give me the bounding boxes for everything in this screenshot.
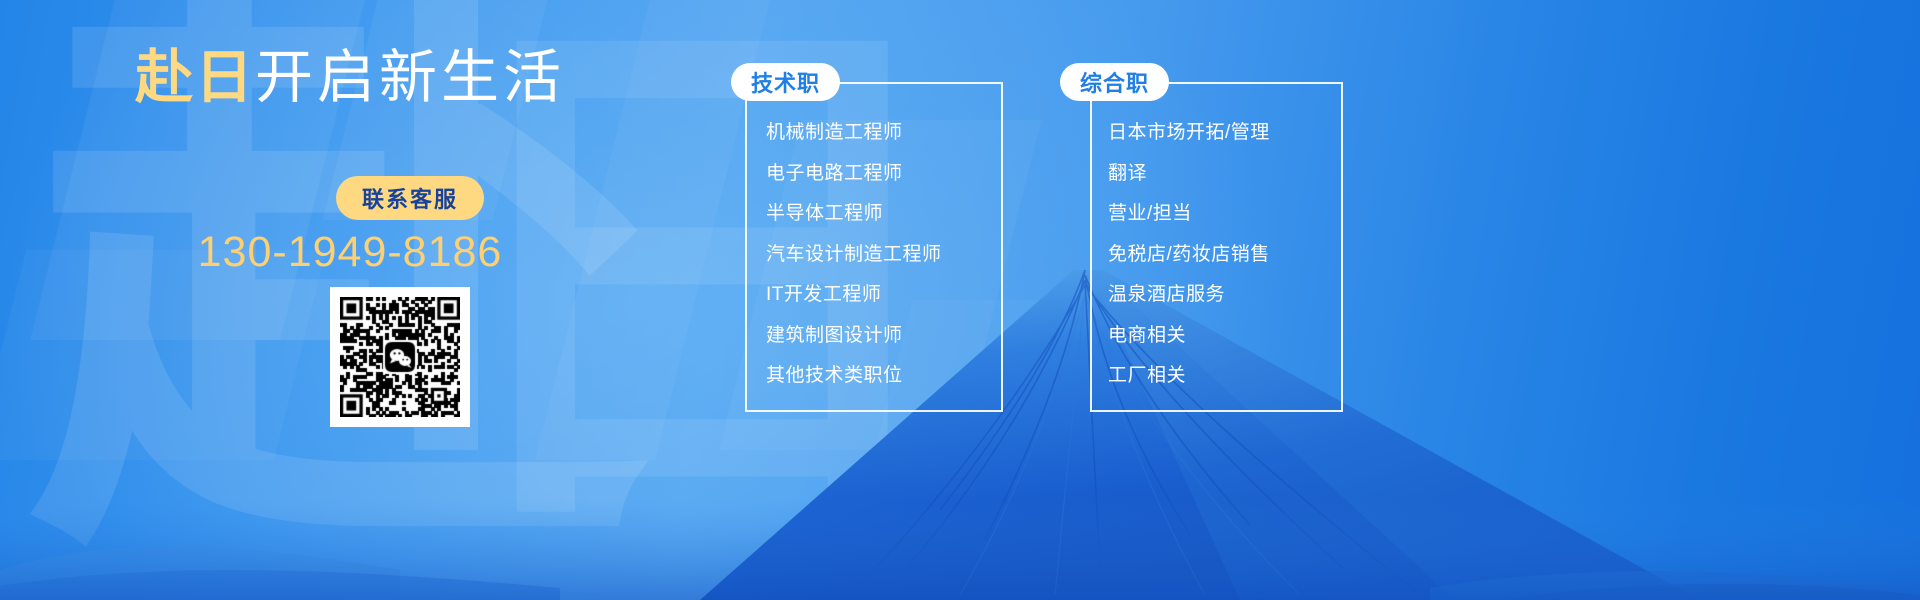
- contact-phone-number: 130-1949-8186: [0, 228, 700, 277]
- list-item[interactable]: 工厂相关: [1108, 356, 1358, 397]
- page-title: 赴日开启新生活: [0, 46, 700, 110]
- wechat-qr-code[interactable]: [330, 287, 470, 427]
- list-item[interactable]: 半导体工程师: [766, 194, 1006, 235]
- job-list-technical: 机械制造工程师 电子电路工程师 半导体工程师 汽车设计制造工程师 IT开发工程师…: [766, 113, 1006, 397]
- list-item[interactable]: 机械制造工程师: [766, 113, 1006, 154]
- list-item[interactable]: 日本市场开拓/管理: [1108, 113, 1358, 154]
- list-item[interactable]: 营业/担当: [1108, 194, 1358, 235]
- list-item[interactable]: 翻译: [1108, 154, 1358, 195]
- headline-rest: 开启新生活: [255, 45, 565, 110]
- list-item[interactable]: 温泉酒店服务: [1108, 275, 1358, 316]
- wechat-qr-code-image: [340, 297, 460, 417]
- list-item[interactable]: 免税店/药妆店销售: [1108, 235, 1358, 276]
- job-category-badge-general[interactable]: 综合职: [1060, 63, 1169, 101]
- left-promo-block: 赴日开启新生活 联系客服 130-1949-8186: [0, 0, 700, 600]
- list-item[interactable]: 汽车设计制造工程师: [766, 235, 1006, 276]
- promo-banner: 赴 日: [0, 0, 1920, 600]
- list-item[interactable]: 电商相关: [1108, 316, 1358, 357]
- contact-support-button[interactable]: 联系客服: [336, 176, 484, 220]
- list-item[interactable]: 其他技术类职位: [766, 356, 1006, 397]
- headline-highlight: 赴日: [135, 45, 255, 110]
- job-category-badge-technical[interactable]: 技术职: [731, 63, 840, 101]
- job-list-general: 日本市场开拓/管理 翻译 营业/担当 免税店/药妆店销售 温泉酒店服务 电商相关…: [1108, 113, 1358, 397]
- list-item[interactable]: IT开发工程师: [766, 275, 1006, 316]
- list-item[interactable]: 电子电路工程师: [766, 154, 1006, 195]
- list-item[interactable]: 建筑制图设计师: [766, 316, 1006, 357]
